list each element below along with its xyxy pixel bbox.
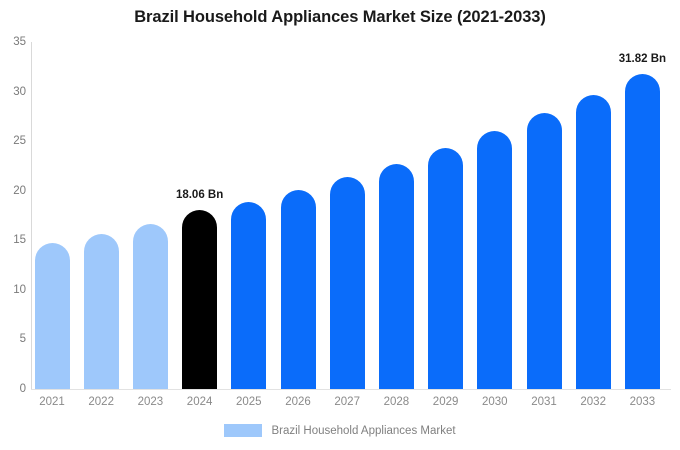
- bar-value-label-2024: 18.06 Bn: [160, 189, 240, 201]
- legend-swatch-brazil-household-appliances-market: [224, 424, 262, 437]
- bar-2022[interactable]: [84, 234, 119, 389]
- bar-2023[interactable]: [133, 224, 168, 389]
- bar-value-label-2033: 31.82 Bn: [602, 53, 680, 65]
- y-axis-tick-label: 5: [0, 333, 26, 345]
- y-axis-tick-label: 20: [0, 185, 26, 197]
- y-axis-tick-label: 30: [0, 86, 26, 98]
- bar-2032[interactable]: [576, 95, 611, 389]
- bar-2027[interactable]: [330, 177, 365, 389]
- chart-container: Brazil Household Appliances Market Size …: [0, 0, 680, 450]
- bar-2029[interactable]: [428, 148, 463, 389]
- y-axis-tick-label: 10: [0, 284, 26, 296]
- bar-2021[interactable]: [35, 243, 70, 389]
- chart-legend: Brazil Household Appliances Market: [0, 424, 680, 437]
- bar-2028[interactable]: [379, 164, 414, 389]
- y-axis-line: [31, 42, 32, 389]
- legend-label-brazil-household-appliances-market: Brazil Household Appliances Market: [271, 425, 455, 437]
- bar-2026[interactable]: [281, 190, 316, 389]
- x-axis-line: [31, 389, 671, 390]
- bar-2030[interactable]: [477, 131, 512, 389]
- y-axis-tick-label: 35: [0, 36, 26, 48]
- bar-2031[interactable]: [527, 113, 562, 389]
- x-axis-tick-label-2033: 2033: [612, 396, 672, 408]
- y-axis-tick-label: 0: [0, 383, 26, 395]
- chart-title: Brazil Household Appliances Market Size …: [0, 8, 680, 27]
- y-axis-tick-label: 25: [0, 135, 26, 147]
- bar-2033[interactable]: [625, 74, 660, 389]
- bar-2024[interactable]: [182, 210, 217, 389]
- bar-2025[interactable]: [231, 202, 266, 389]
- y-axis-tick-label: 15: [0, 234, 26, 246]
